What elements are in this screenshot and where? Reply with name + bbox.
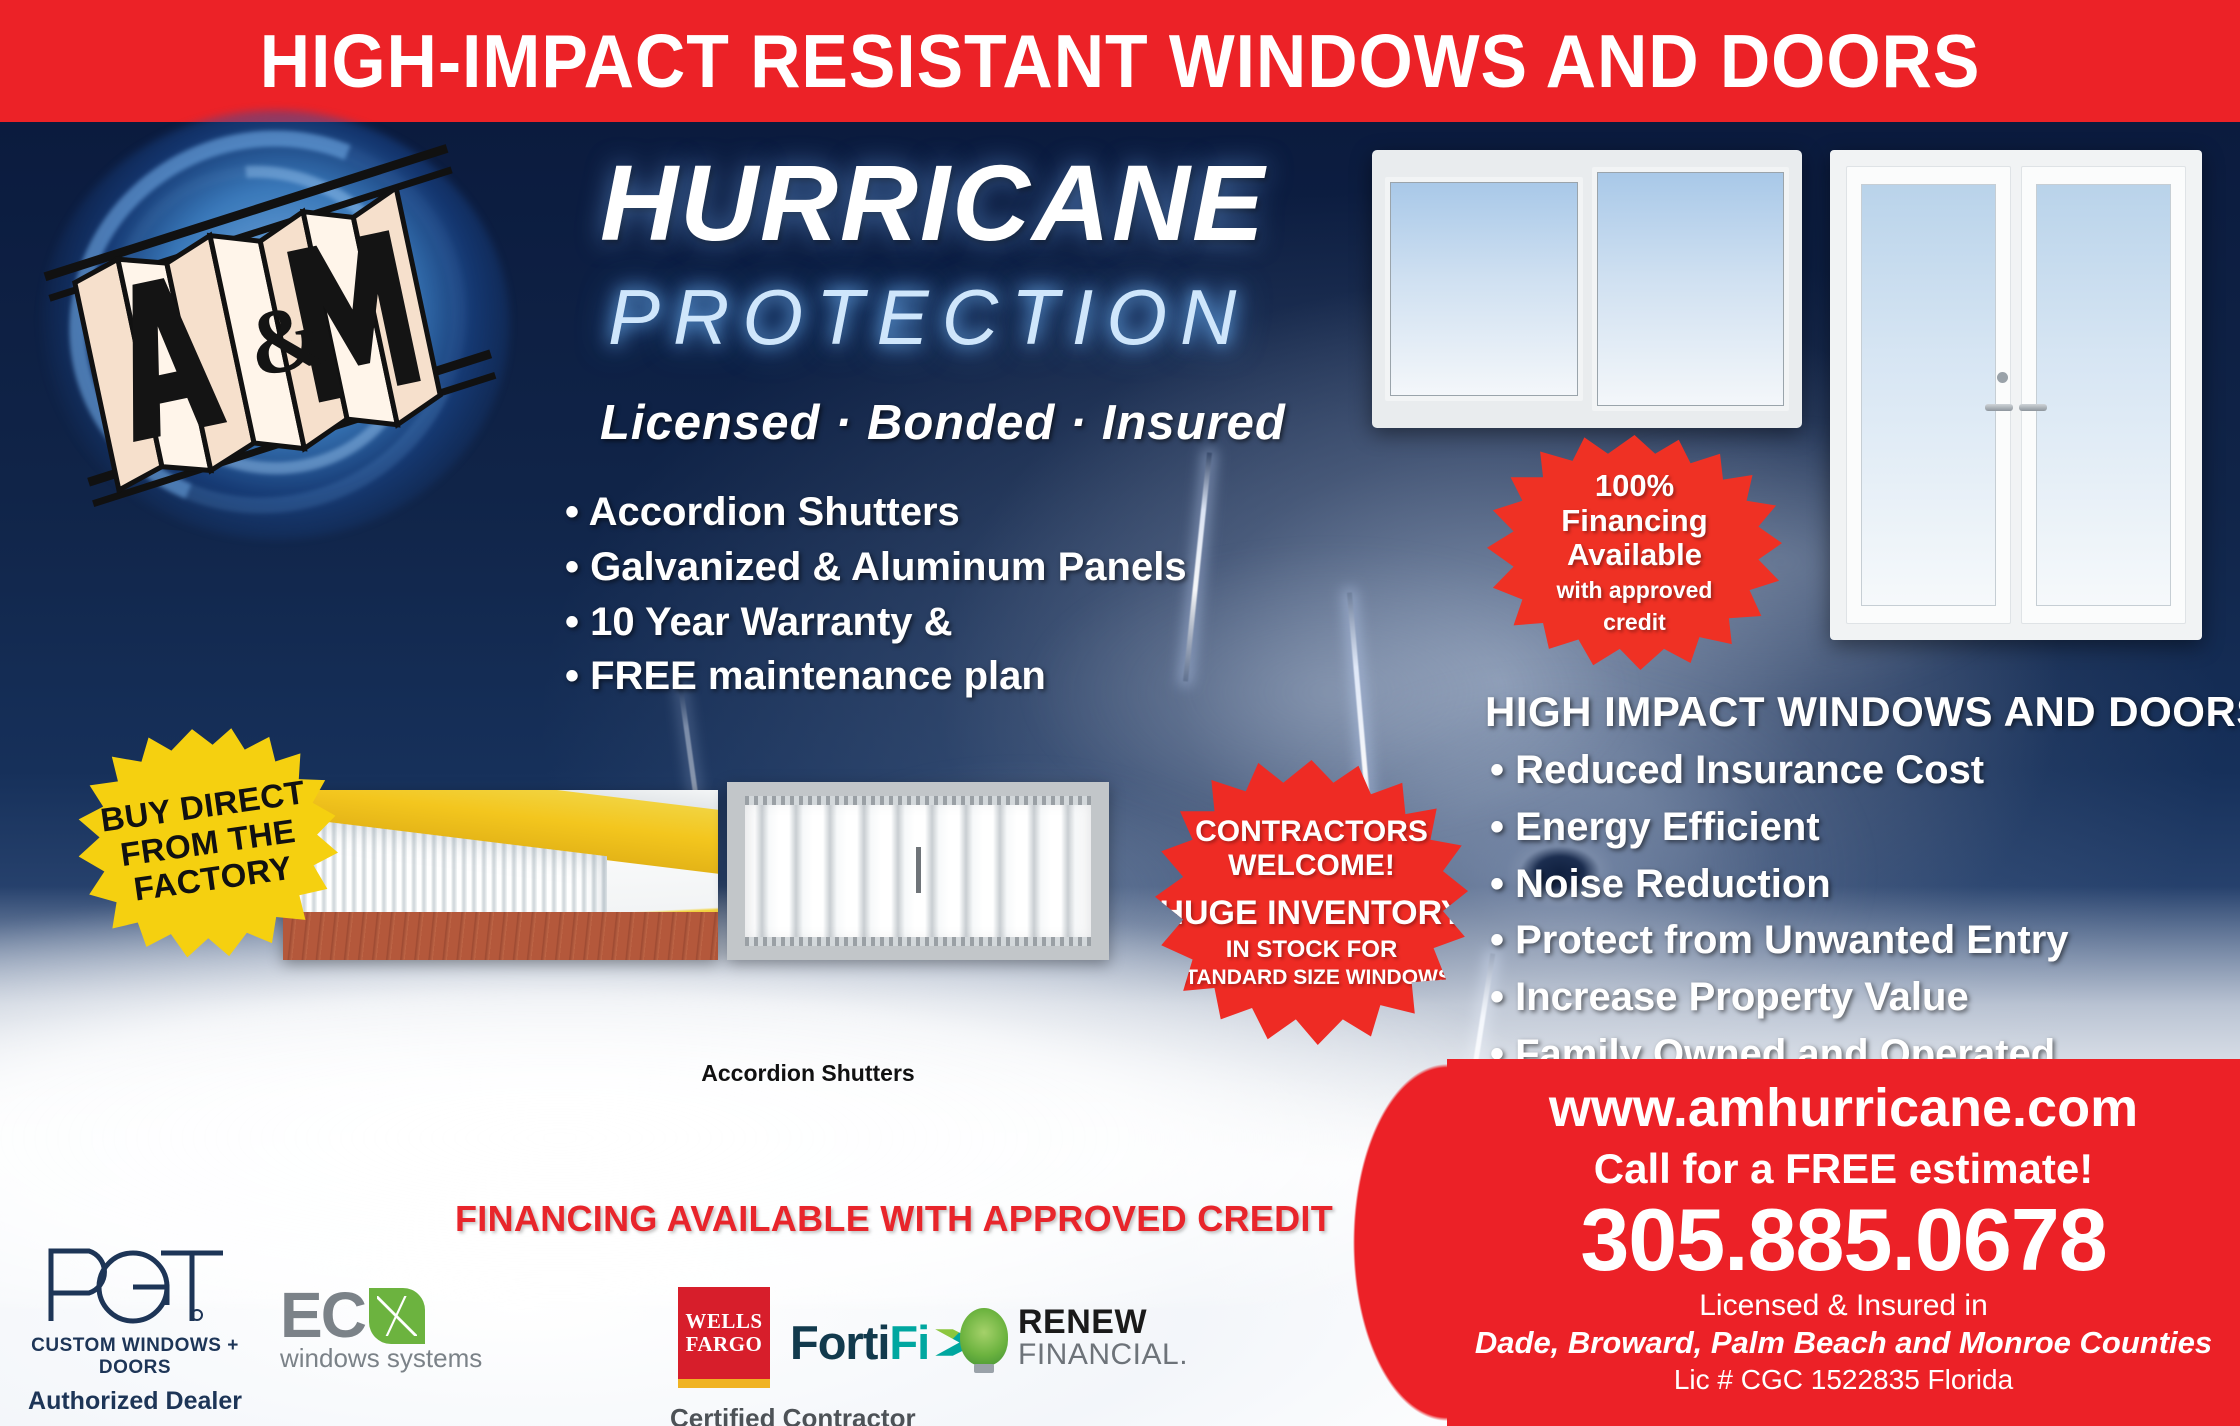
list-item: Galvanized & Aluminum Panels — [565, 540, 1187, 595]
lightbulb-leaf-icon — [960, 1308, 1008, 1366]
wells-fargo-line1: WELLS — [685, 1310, 762, 1333]
renew-wordmark: RENEW FINANCIAL. — [1018, 1305, 1188, 1371]
badge-contractors-line1: CONTRACTORS — [1195, 815, 1428, 849]
hero-title-protection: PROTECTION — [608, 272, 1249, 363]
house-brick-floor — [283, 912, 718, 960]
badge-contractors-line5: STANDARD SIZE WINDOWS — [1171, 966, 1452, 990]
door-leaf-left — [1846, 166, 2011, 624]
product-photo-window — [1372, 150, 1802, 428]
list-item: Reduced Insurance Cost — [1490, 742, 2069, 799]
accordion-panels — [745, 796, 1091, 946]
partner-logo-fortifi: FortiFi — [790, 1315, 979, 1370]
am-accordion-shutter-icon: & — [40, 110, 510, 540]
window-pane-left — [1385, 177, 1583, 401]
fortifi-name-b: Fi — [889, 1316, 929, 1369]
phone-number[interactable]: 305.885.0678 — [1447, 1195, 2240, 1285]
fortifi-name-a: Forti — [790, 1316, 889, 1369]
website-link[interactable]: www.amhurricane.com — [1447, 1077, 2240, 1139]
licensed-label: Licensed & Insured in — [1447, 1289, 2240, 1323]
accordion-photo-caption: Accordion Shutters — [608, 1060, 1008, 1087]
badge-financing-line1: 100% — [1595, 469, 1674, 504]
wells-fargo-line2: FARGO — [686, 1333, 763, 1356]
contact-panel: www.amhurricane.com Call for a FREE esti… — [1447, 1059, 2240, 1426]
accordion-rail-top — [745, 796, 1091, 805]
services-list: Accordion Shutters Galvanized & Aluminum… — [565, 485, 1187, 704]
pgt-mark-icon — [35, 1243, 235, 1329]
badge-financing-line3: Available — [1567, 538, 1702, 573]
hero-credentials: Licensed · Bonded · Insured — [600, 395, 1286, 451]
accordion-rail-bottom — [745, 937, 1091, 946]
product-photo-accordion-shutter — [727, 782, 1109, 960]
list-item: 10 Year Warranty & — [565, 595, 1187, 650]
partner-logo-eco: EC windows systems — [280, 1287, 510, 1374]
certified-contractor-status: Certified Contractor — [670, 1403, 916, 1426]
license-number: Lic # CGC 1522835 Florida — [1447, 1364, 2240, 1396]
wells-fargo-mark: WELLS FARGO — [678, 1287, 770, 1379]
eco-subtitle: windows systems — [280, 1343, 510, 1374]
badge-financing-line2: Financing — [1561, 504, 1707, 539]
fortifi-wordmark: FortiFi — [790, 1315, 929, 1370]
list-item: FREE maintenance plan — [565, 649, 1187, 704]
door-glass — [2036, 184, 2171, 606]
hero-title-hurricane: HURRICANE — [600, 140, 1266, 265]
partner-logos: CUSTOM WINDOWS + DOORS Authorized Dealer… — [0, 1196, 1450, 1426]
eco-mark: EC — [280, 1287, 510, 1345]
advertisement-flyer: HIGH-IMPACT RESISTANT WINDOWS AND DOORS — [0, 0, 2240, 1426]
wells-fargo-gold-bar — [678, 1379, 770, 1388]
features-heading: HIGH IMPACT WINDOWS AND DOORS — [1485, 688, 2240, 736]
am-logo: & — [40, 110, 510, 540]
pgt-dealer-status: Authorized Dealer — [20, 1387, 250, 1416]
badge-contractors-line3: HUGE INVENTORY — [1159, 894, 1463, 933]
partner-logo-renew-financial: RENEW FINANCIAL. — [960, 1305, 1188, 1371]
features-list: Reduced Insurance Cost Energy Efficient … — [1490, 742, 2069, 1083]
service-counties: Dade, Broward, Palm Beach and Monroe Cou… — [1447, 1325, 2240, 1361]
list-item: Increase Property Value — [1490, 969, 2069, 1026]
door-lock-icon — [1997, 372, 2008, 383]
eco-letters: EC — [280, 1287, 365, 1345]
window-pane-right — [1592, 167, 1790, 411]
list-item: Accordion Shutters — [565, 485, 1187, 540]
list-item: Protect from Unwanted Entry — [1490, 912, 2069, 969]
partner-logo-wells-fargo: WELLS FARGO — [678, 1287, 788, 1388]
leaf-icon — [369, 1288, 425, 1344]
pgt-subtitle: CUSTOM WINDOWS + DOORS — [20, 1335, 250, 1379]
partner-logo-pgt: CUSTOM WINDOWS + DOORS Authorized Dealer — [20, 1243, 250, 1416]
badge-contractors-line2: WELCOME! — [1228, 849, 1395, 883]
badge-financing-line4: with approved — [1557, 577, 1713, 605]
renew-line1: RENEW — [1018, 1305, 1188, 1339]
badge-financing-line5: credit — [1603, 609, 1666, 637]
badge-contractors-line4: IN STOCK FOR — [1226, 936, 1398, 964]
call-cta: Call for a FREE estimate! — [1447, 1145, 2240, 1193]
renew-line2: FINANCIAL. — [1018, 1339, 1188, 1371]
accordion-handle-icon — [916, 847, 921, 893]
list-item: Noise Reduction — [1490, 856, 2069, 913]
door-handle-icon — [2019, 404, 2047, 411]
top-banner: HIGH-IMPACT RESISTANT WINDOWS AND DOORS — [0, 0, 2240, 122]
door-glass — [1861, 184, 1996, 606]
banner-headline: HIGH-IMPACT RESISTANT WINDOWS AND DOORS — [260, 18, 1981, 104]
list-item: Energy Efficient — [1490, 799, 2069, 856]
door-handle-icon — [1985, 404, 2013, 411]
door-leaf-right — [2021, 166, 2186, 624]
product-photo-house-shutters — [283, 790, 718, 960]
product-photo-french-doors — [1830, 150, 2202, 640]
